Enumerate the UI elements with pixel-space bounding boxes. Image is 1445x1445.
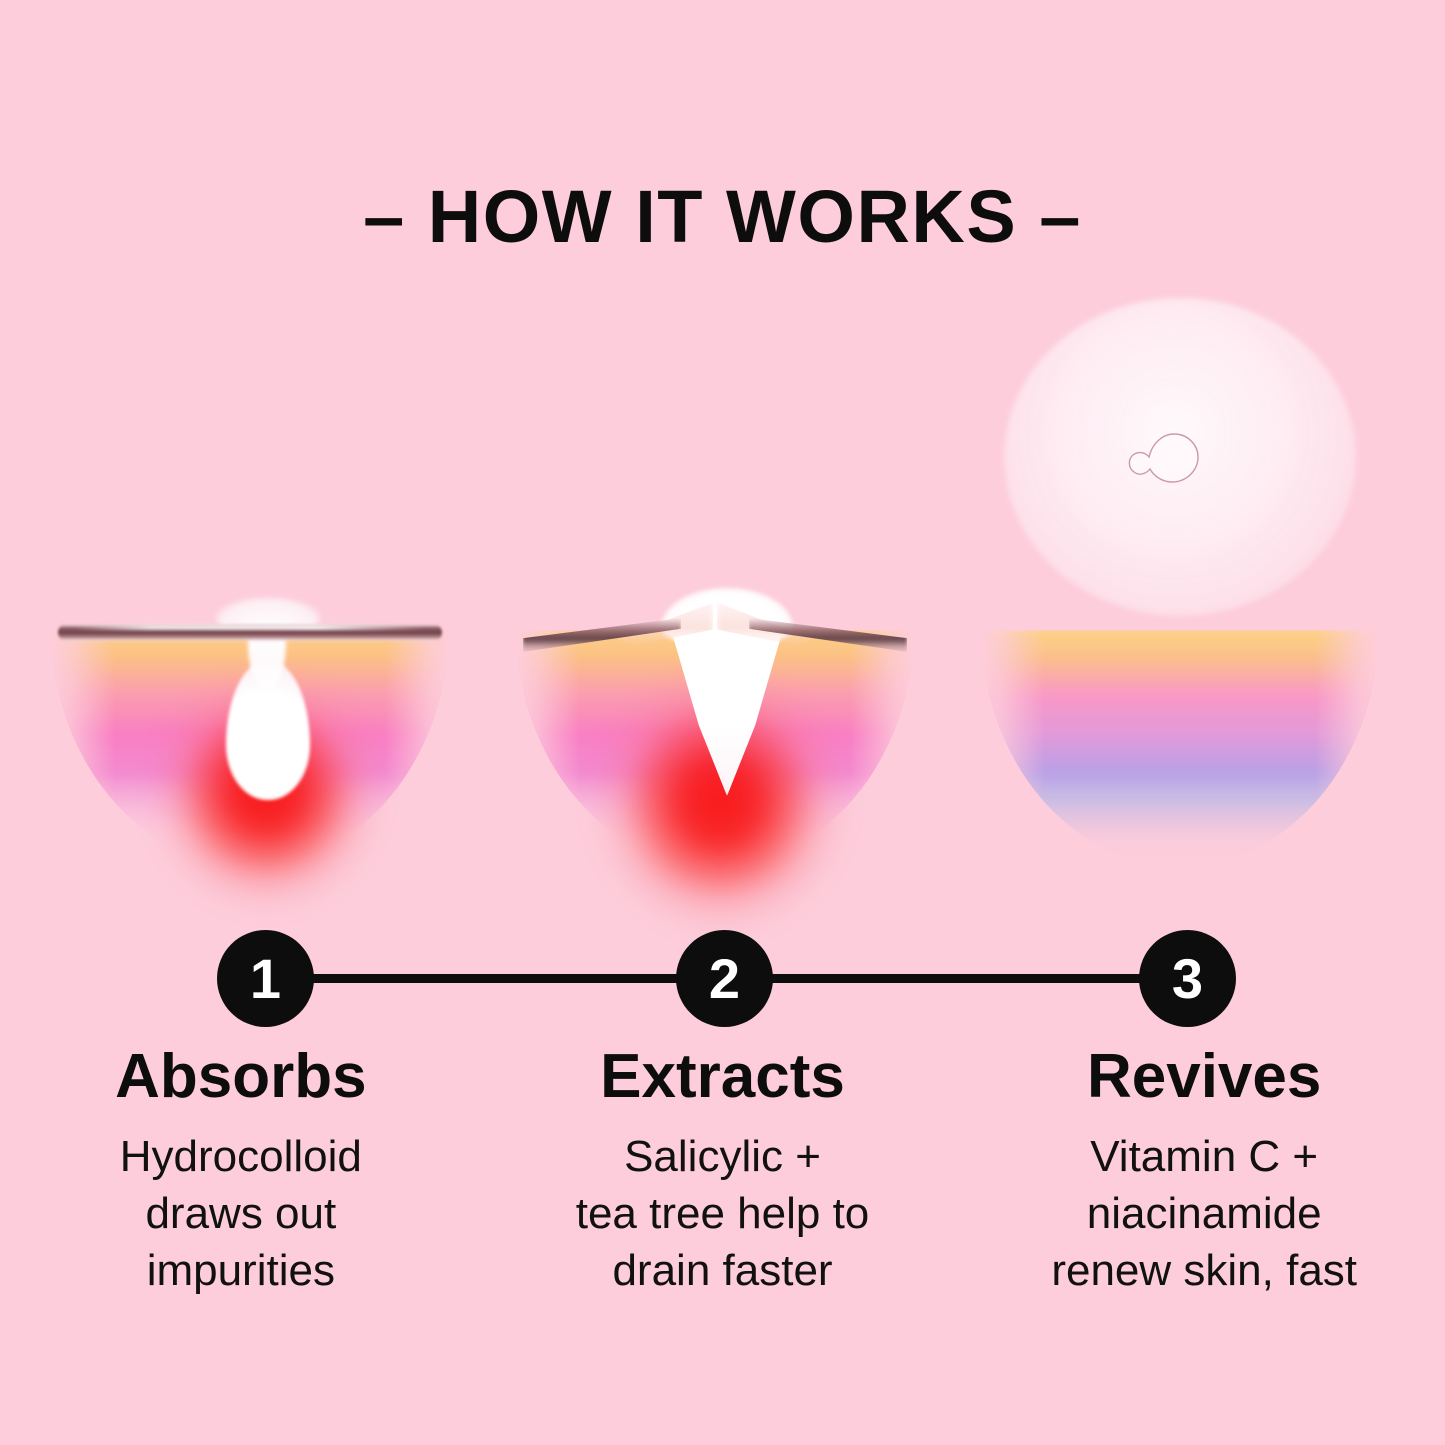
captured-impurity-blob-icon (1122, 430, 1204, 486)
step-captions: Absorbs Hydrocolloid draws out impuritie… (0, 1040, 1445, 1340)
step-marker-3: 3 (1139, 930, 1236, 1027)
skin-cross-section-calm-icon (982, 630, 1378, 866)
page-title: – HOW IT WORKS – (0, 174, 1445, 260)
infographic-page: – HOW IT WORKS – (0, 0, 1445, 1445)
step-marker-2: 2 (676, 930, 773, 1027)
step-heading-3: Revives (975, 1040, 1433, 1114)
illustration-row (0, 280, 1445, 900)
step-heading-1: Absorbs (12, 1040, 470, 1114)
step-heading-2: Extracts (494, 1040, 952, 1114)
step-column-3: Revives Vitamin C + niacinamide renew sk… (963, 1040, 1445, 1340)
illustration-panel-revives (970, 280, 1390, 900)
step-column-1: Absorbs Hydrocolloid draws out impuritie… (0, 1040, 482, 1340)
step-description-2: Salicylic + tea tree help to drain faste… (494, 1128, 952, 1299)
step-description-3: Vitamin C + niacinamide renew skin, fast (975, 1128, 1433, 1299)
skin-bottom-fade (982, 776, 1378, 866)
step-column-2: Extracts Salicylic + tea tree help to dr… (482, 1040, 964, 1340)
step-progress-bar: 1 2 3 (0, 928, 1445, 1028)
patch-highlight (74, 625, 424, 630)
illustration-panel-absorbs (40, 280, 460, 900)
step-marker-1: 1 (217, 930, 314, 1027)
illustration-panel-extracts (505, 280, 925, 900)
step-description-1: Hydrocolloid draws out impurities (12, 1128, 470, 1299)
